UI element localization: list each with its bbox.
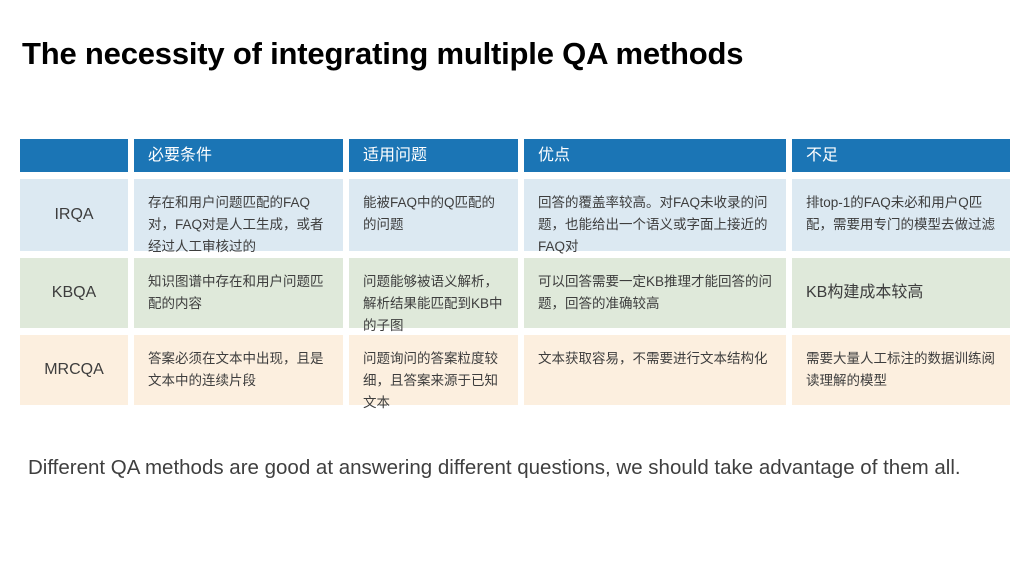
row-label-mrcqa: MRCQA: [20, 335, 128, 405]
row-label-irqa: IRQA: [20, 179, 128, 251]
cell-irqa-disadvantages: 排top-1的FAQ未必和用户Q匹配，需要用专门的模型去做过滤: [792, 179, 1010, 251]
cell-irqa-prerequisite: 存在和用户问题匹配的FAQ对，FAQ对是人工生成，或者经过人工审核过的: [134, 179, 343, 251]
table-header-disadvantages: 不足: [792, 139, 1010, 172]
table-row: KBQA 知识图谱中存在和用户问题匹配的内容 问题能够被语义解析，解析结果能匹配…: [20, 258, 1004, 328]
table-header-row: 必要条件 适用问题 优点 不足: [20, 139, 1004, 172]
slide-canvas: The necessity of integrating multiple QA…: [0, 0, 1024, 566]
cell-kbqa-advantages: 可以回答需要一定KB推理才能回答的问题，回答的准确较高: [524, 258, 786, 328]
cell-mrcqa-prerequisite: 答案必须在文本中出现，且是文本中的连续片段: [134, 335, 343, 405]
cell-mrcqa-applicable-questions: 问题询问的答案粒度较细，且答案来源于已知文本: [349, 335, 518, 405]
cell-kbqa-prerequisite: 知识图谱中存在和用户问题匹配的内容: [134, 258, 343, 328]
table-header-corner: [20, 139, 128, 172]
cell-mrcqa-advantages: 文本获取容易，不需要进行文本结构化: [524, 335, 786, 405]
slide-caption: Different QA methods are good at answeri…: [28, 450, 968, 485]
page-title: The necessity of integrating multiple QA…: [22, 36, 743, 72]
row-label-kbqa: KBQA: [20, 258, 128, 328]
table-header-advantages: 优点: [524, 139, 786, 172]
table-header-applicable-questions: 适用问题: [349, 139, 518, 172]
qa-methods-comparison-table: 必要条件 适用问题 优点 不足 IRQA 存在和用户问题匹配的FAQ对，FAQ对…: [20, 139, 1004, 405]
table-row: MRCQA 答案必须在文本中出现，且是文本中的连续片段 问题询问的答案粒度较细，…: [20, 335, 1004, 405]
cell-kbqa-disadvantages: KB构建成本较高: [792, 258, 1010, 328]
table-header-prerequisite: 必要条件: [134, 139, 343, 172]
cell-mrcqa-disadvantages: 需要大量人工标注的数据训练阅读理解的模型: [792, 335, 1010, 405]
cell-kbqa-applicable-questions: 问题能够被语义解析，解析结果能匹配到KB中的子图: [349, 258, 518, 328]
cell-irqa-applicable-questions: 能被FAQ中的Q匹配的的问题: [349, 179, 518, 251]
table-row: IRQA 存在和用户问题匹配的FAQ对，FAQ对是人工生成，或者经过人工审核过的…: [20, 179, 1004, 251]
cell-irqa-advantages: 回答的覆盖率较高。对FAQ未收录的问题，也能给出一个语义或字面上接近的FAQ对: [524, 179, 786, 251]
